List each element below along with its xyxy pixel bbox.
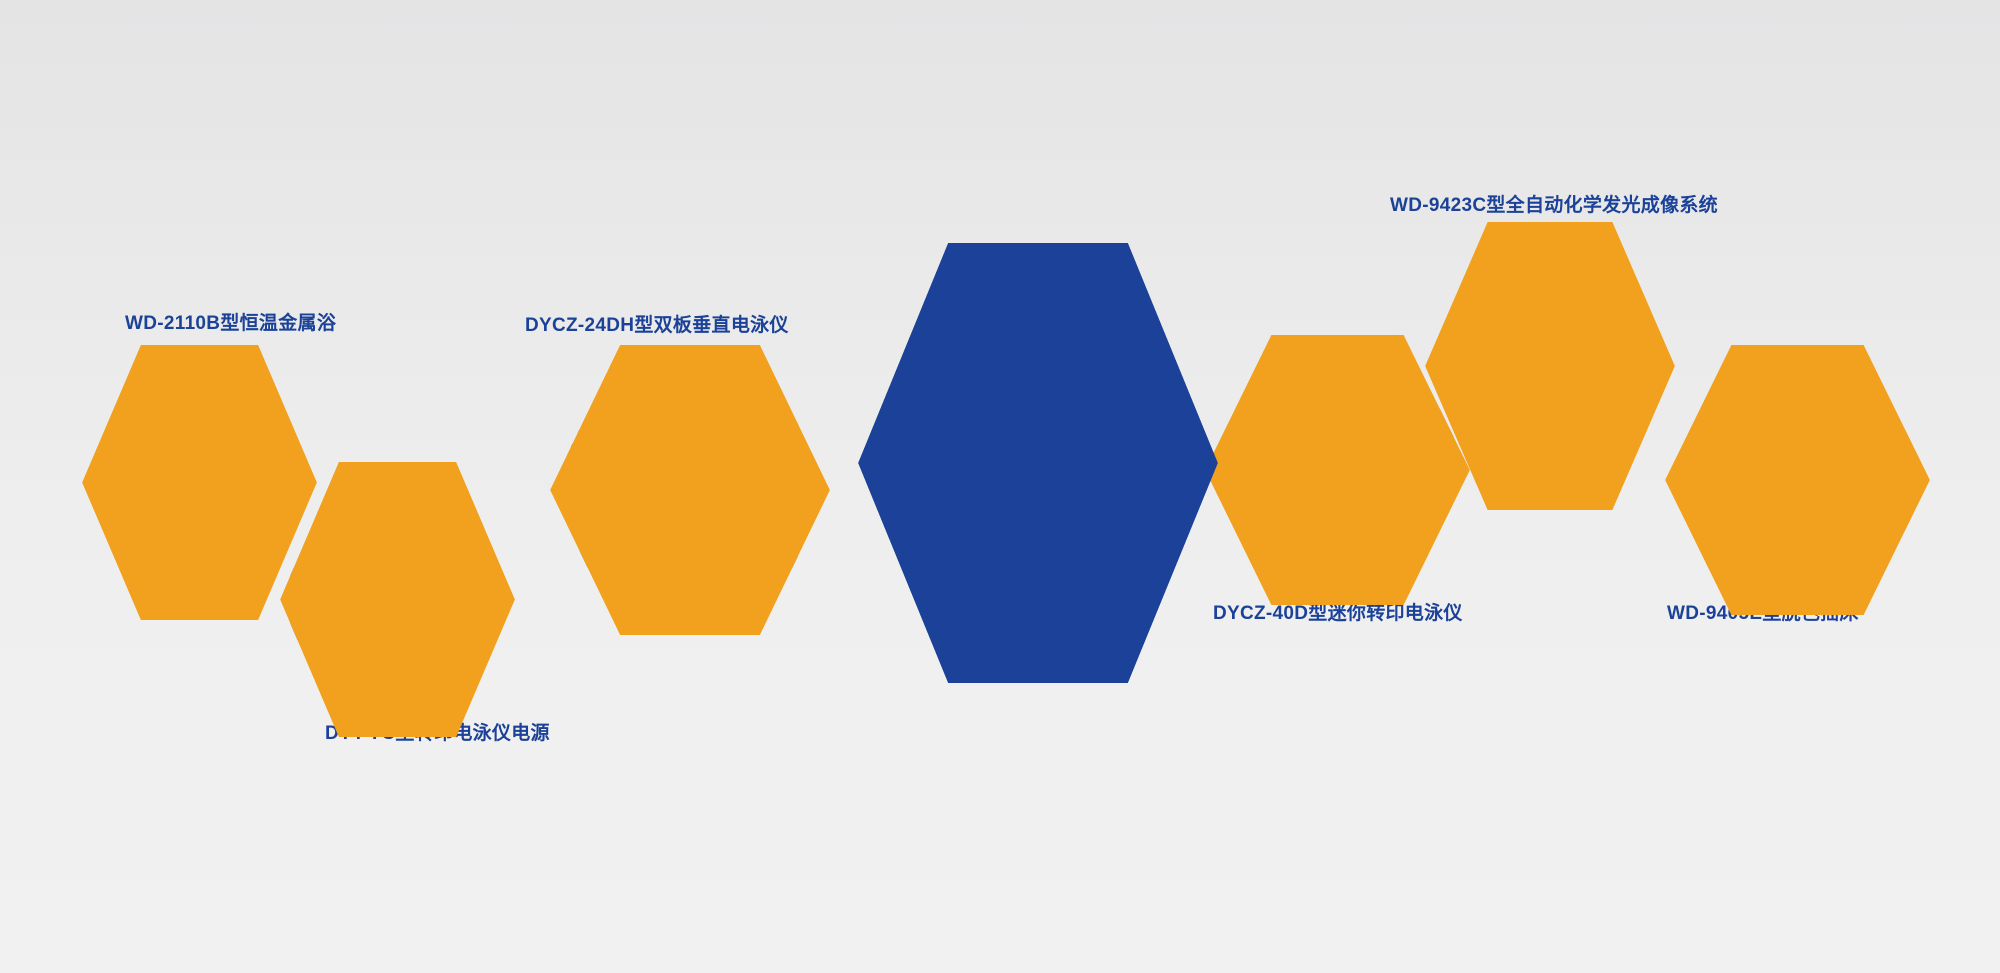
hex-cell-wd-9405e[interactable]: WD-9405E 脱色摇床 北京六一生物科技有限公司 调速 定时: [1665, 345, 1930, 615]
hex-outline-center: [858, 243, 1218, 683]
label-wd-9423c: WD-9423C型全自动化学发光成像系统: [1390, 190, 1718, 217]
hex-outline: [550, 345, 830, 635]
infographic-canvas: WD-2110B型恒温金属浴 DYY-7C型转印电泳仪电源 DYCZ-24DH型…: [0, 0, 2000, 973]
hex-outline: [280, 462, 515, 737]
hex-outline: [1665, 345, 1930, 615]
hex-outline: [82, 345, 317, 620]
label-dycz-24dh: DYCZ-24DH型双板垂直电泳仪: [525, 310, 789, 337]
hex-cell-dyy-7c[interactable]: DYY-7C型 电泳仪电源 北京六一仪器厂: [280, 462, 515, 737]
hex-cell-wd-2110b[interactable]: 88.8 88.8 LIUYI: [82, 345, 317, 620]
hex-cell-dycz-24dh[interactable]: [550, 345, 830, 635]
hex-cell-center: WB实验 产品组合: [858, 243, 1218, 683]
label-wd-2110b: WD-2110B型恒温金属浴: [125, 308, 336, 335]
